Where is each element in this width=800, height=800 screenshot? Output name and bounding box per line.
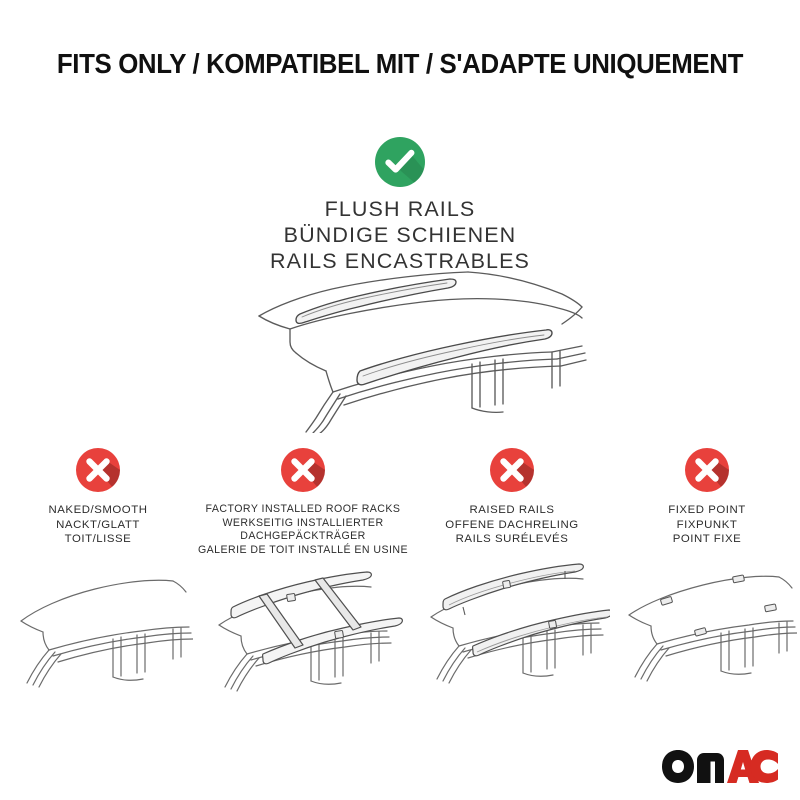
incompatible-item-raised-rails: RAISED RAILS OFFENE DACHRELING RAILS SUR…	[410, 448, 614, 704]
car-roof-raised-rails-illustration	[410, 559, 614, 694]
label-de: FIXPUNKT	[614, 518, 800, 533]
incompatible-labels-raised-rails: RAISED RAILS OFFENE DACHRELING RAILS SUR…	[410, 503, 614, 547]
label-en: NAKED/SMOOTH	[0, 503, 196, 518]
incompatible-labels-fixed-point: FIXED POINT FIXPUNKT POINT FIXE	[614, 503, 800, 547]
red-x-circle-icon	[685, 448, 729, 492]
label-en: FACTORY INSTALLED ROOF RACKS	[196, 503, 410, 517]
incompatible-row: NAKED/SMOOTH NACKT/GLATT TOIT/LISSE	[0, 448, 800, 704]
logo-letter-o	[662, 750, 694, 783]
red-x-circle-icon	[490, 448, 534, 492]
logo-letter-m	[697, 753, 724, 783]
car-roof-fixed-point-illustration	[614, 559, 800, 694]
incompatible-labels-naked-smooth: NAKED/SMOOTH NACKT/GLATT TOIT/LISSE	[0, 503, 196, 547]
page-title-text: FITS ONLY / KOMPATIBEL MIT / S'ADAPTE UN…	[57, 48, 743, 80]
label-fr: POINT FIXE	[614, 532, 800, 547]
incompatible-item-fixed-point: FIXED POINT FIXPUNKT POINT FIXE	[614, 448, 800, 704]
car-roof-naked-smooth-illustration	[0, 559, 196, 694]
label-de: OFFENE DACHRELING	[410, 518, 614, 533]
label-en: FIXED POINT	[614, 503, 800, 518]
green-check-circle-icon	[375, 137, 425, 187]
label-de-2: DACHGEPÄCKTRÄGER	[196, 530, 410, 544]
incompatible-labels-factory-racks: FACTORY INSTALLED ROOF RACKS WERKSEITIG …	[196, 503, 410, 557]
red-x-circle-icon	[76, 448, 120, 492]
page-title: FITS ONLY / KOMPATIBEL MIT / S'ADAPTE UN…	[0, 48, 800, 80]
compatible-section: FLUSH RAILS BÜNDIGE SCHIENEN RAILS ENCAS…	[0, 137, 800, 275]
label-de-1: WERKSEITIG INSTALLIERTER	[196, 517, 410, 531]
incompatible-item-naked-smooth: NAKED/SMOOTH NACKT/GLATT TOIT/LISSE	[0, 448, 196, 704]
car-roof-factory-racks-illustration	[196, 569, 410, 704]
compatible-label-en: FLUSH RAILS	[0, 196, 800, 222]
label-de: NACKT/GLATT	[0, 518, 196, 533]
car-roof-flush-rails-illustration	[232, 268, 588, 433]
compatible-label-de: BÜNDIGE SCHIENEN	[0, 222, 800, 248]
compatible-labels: FLUSH RAILS BÜNDIGE SCHIENEN RAILS ENCAS…	[0, 196, 800, 275]
label-en: RAISED RAILS	[410, 503, 614, 518]
red-x-circle-icon	[281, 448, 325, 492]
incompatible-item-factory-racks: FACTORY INSTALLED ROOF RACKS WERKSEITIG …	[196, 448, 410, 704]
label-fr: TOIT/LISSE	[0, 532, 196, 547]
label-fr: RAILS SURÉLEVÉS	[410, 532, 614, 547]
omac-logo	[660, 748, 780, 788]
label-fr: GALERIE DE TOIT INSTALLÉ EN USINE	[196, 544, 410, 558]
